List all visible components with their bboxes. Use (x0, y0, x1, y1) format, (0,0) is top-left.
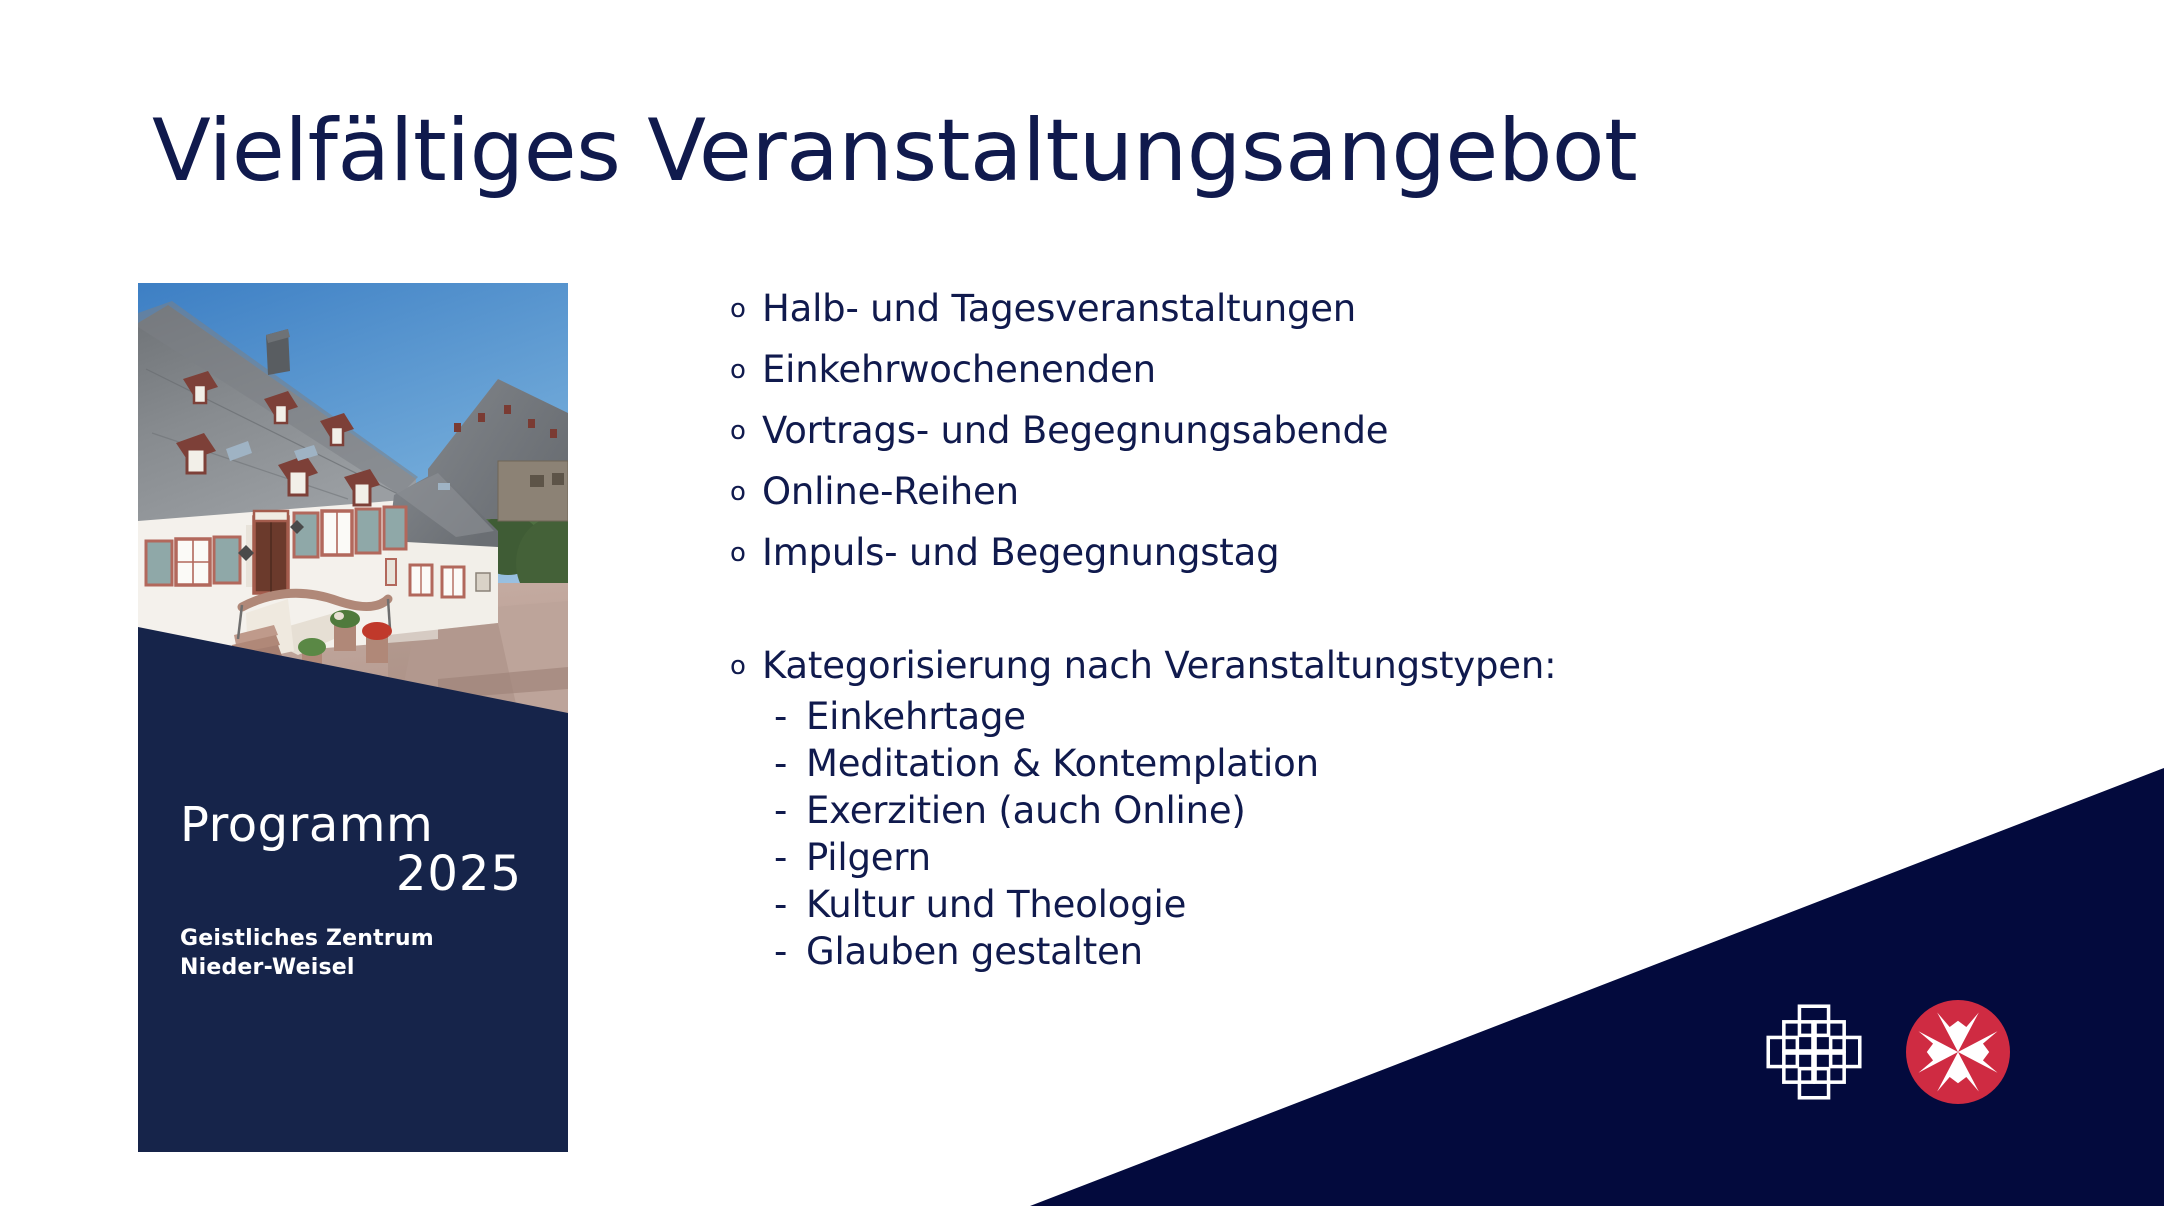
sub-list-item: - Meditation & Kontemplation (774, 742, 1908, 789)
sub-list-item: - Einkehrtage (774, 695, 1908, 742)
sub-list-item-label: Kultur und Theologie (806, 883, 1186, 927)
sub-list-item-label: Glauben gestalten (806, 930, 1143, 974)
dash-marker-icon: - (774, 836, 806, 880)
dash-marker-icon: - (774, 695, 806, 739)
list-item-label: Einkehrwochenenden (762, 347, 1156, 393)
brochure-title-block: Programm 2025 Geistliches Zentrum Nieder… (180, 801, 528, 983)
sub-list-item-label: Exerzitien (auch Online) (806, 789, 1246, 833)
page-title: Vielfältiges Veranstaltungsangebot (152, 106, 1637, 196)
list-item: o Vortrags- und Begegnungsabende (728, 408, 1908, 469)
bullet-list: o Halb- und Tagesveranstaltungen o Einke… (728, 286, 1908, 977)
list-item-label: Online-Reihen (762, 469, 1019, 515)
sub-list-item-label: Einkehrtage (806, 695, 1026, 739)
bullet-marker-icon: o (728, 408, 762, 454)
list-item-label: Vortrags- und Begegnungsabende (762, 408, 1388, 454)
list-item: o Einkehrwochenenden (728, 347, 1908, 408)
square-cross-icon (1762, 1000, 1866, 1108)
bullet-marker-icon: o (728, 643, 762, 689)
maltese-cross-icon (1906, 1000, 2010, 1108)
dash-marker-icon: - (774, 883, 806, 927)
dash-marker-icon: - (774, 789, 806, 833)
list-item: o Impuls- und Begegnungstag (728, 530, 1908, 591)
sub-list-item: - Glauben gestalten (774, 930, 1908, 977)
brochure-cover-card: Programm 2025 Geistliches Zentrum Nieder… (138, 283, 568, 1152)
dash-marker-icon: - (774, 742, 806, 786)
corner-logo-group (1762, 1000, 2010, 1108)
brochure-org-line-2: Nieder-Weisel (180, 954, 528, 983)
bullet-marker-icon: o (728, 530, 762, 576)
sub-list-item: - Kultur und Theologie (774, 883, 1908, 930)
brochure-programm-label: Programm (180, 801, 528, 849)
brochure-year: 2025 (180, 849, 528, 899)
sub-list-item: - Exerzitien (auch Online) (774, 789, 1908, 836)
sub-list-item-label: Meditation & Kontemplation (806, 742, 1319, 786)
list-item: o Online-Reihen (728, 469, 1908, 530)
list-item-label: Halb- und Tagesveranstaltungen (762, 286, 1356, 332)
list-item: o Halb- und Tagesveranstaltungen (728, 286, 1908, 347)
sub-list-item: - Pilgern (774, 836, 1908, 883)
list-spacer (728, 591, 1908, 643)
list-item-category: o Kategorisierung nach Veranstaltungstyp… (728, 643, 1908, 695)
bullet-marker-icon: o (728, 286, 762, 332)
dash-marker-icon: - (774, 930, 806, 974)
brochure-navy-wedge (138, 283, 568, 1152)
bullet-marker-icon: o (728, 347, 762, 393)
bullet-marker-icon: o (728, 469, 762, 515)
category-label: Kategorisierung nach Veranstaltungstypen… (762, 643, 1556, 689)
list-item-label: Impuls- und Begegnungstag (762, 530, 1279, 576)
slide-canvas: Vielfältiges Veranstaltungsangebot (0, 0, 2164, 1206)
category-sub-list: - Einkehrtage - Meditation & Kontemplati… (774, 695, 1908, 977)
sub-list-item-label: Pilgern (806, 836, 931, 880)
brochure-org-line-1: Geistliches Zentrum (180, 925, 528, 954)
